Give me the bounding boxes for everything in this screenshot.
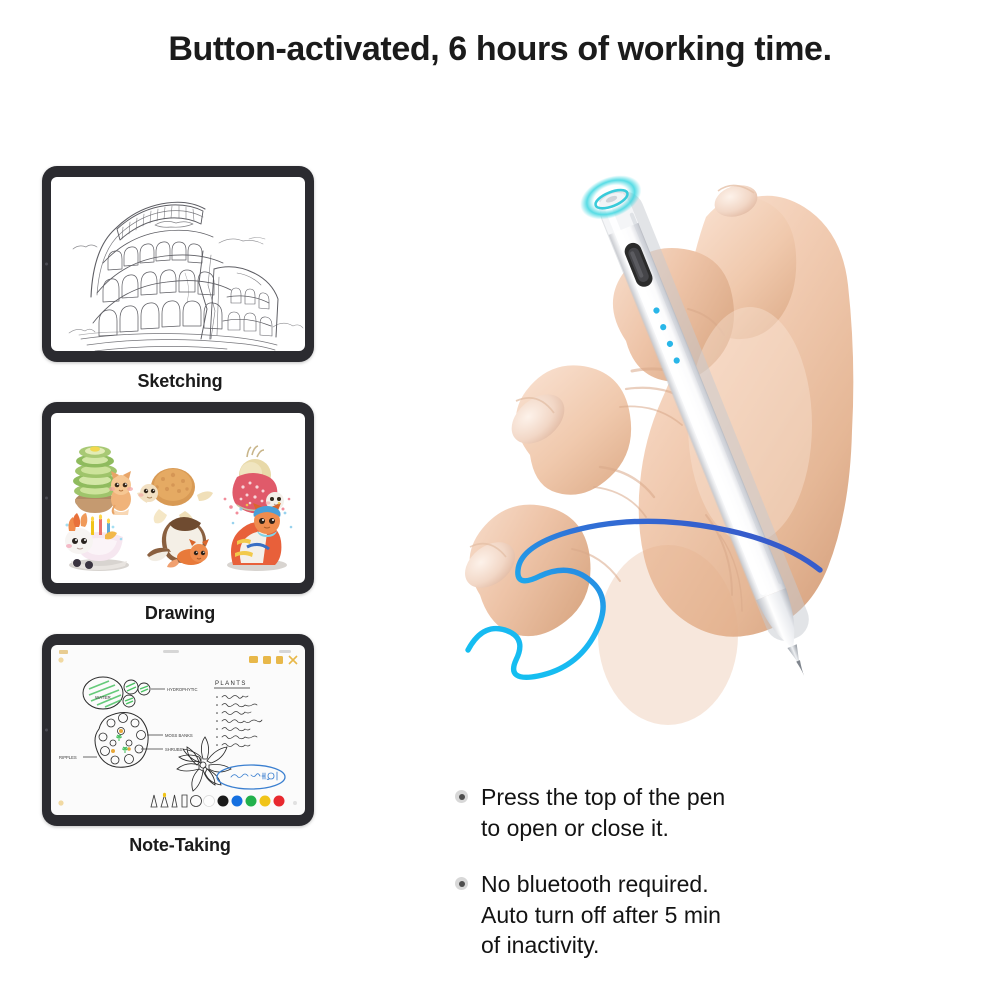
bullet-item: Press the top of the pen to open or clos… xyxy=(455,782,885,843)
svg-text:PLANTS: PLANTS xyxy=(215,681,247,687)
bullet-line: Auto turn off after 5 min xyxy=(481,900,721,931)
tablet-frame-note-taking: WATER HYDROPHYTIC xyxy=(42,634,314,826)
tablet-screen-drawing xyxy=(51,413,305,583)
bullet-text: No bluetooth required. Auto turn off aft… xyxy=(481,869,721,961)
camera-icon xyxy=(45,729,48,732)
svg-text:MOSS BANKS: MOSS BANKS xyxy=(165,733,193,738)
colosseum-sketch-icon xyxy=(51,177,305,351)
watercolor-illustrations-icon xyxy=(51,413,305,583)
svg-text:WATER: WATER xyxy=(95,695,111,700)
svg-text:SHRUBS: SHRUBS xyxy=(165,747,183,752)
use-case-sketching: Sketching xyxy=(42,166,318,392)
camera-icon xyxy=(45,497,48,500)
bullet-item: No bluetooth required. Auto turn off aft… xyxy=(455,869,885,961)
bullet-line: of inactivity. xyxy=(481,930,721,961)
svg-text:HYDROPHYTIC: HYDROPHYTIC xyxy=(167,687,197,692)
note-toolbar-top xyxy=(249,656,297,664)
tablet-frame-sketching xyxy=(42,166,314,362)
product-feature-page: Button-activated, 6 hours of working tim… xyxy=(0,0,1000,1000)
bullet-line: No bluetooth required. xyxy=(481,869,721,900)
bullet-dot-icon xyxy=(455,877,468,890)
tablet-screen-note-taking: WATER HYDROPHYTIC xyxy=(51,645,305,815)
camera-icon xyxy=(45,263,48,266)
caption-drawing: Drawing xyxy=(42,603,318,624)
tablet-screen-sketching xyxy=(51,177,305,351)
hand-holding-stylus-photo xyxy=(420,95,980,755)
use-case-note-taking: WATER HYDROPHYTIC xyxy=(42,634,318,856)
page-title: Button-activated, 6 hours of working tim… xyxy=(0,30,1000,69)
use-case-drawing: Drawing xyxy=(42,402,318,624)
feature-bullet-list: Press the top of the pen to open or clos… xyxy=(455,782,885,987)
svg-text:RIPPLES: RIPPLES xyxy=(59,755,77,760)
use-case-list: Sketching xyxy=(42,166,318,866)
bullet-line: to open or close it. xyxy=(481,813,725,844)
bullet-dot-icon xyxy=(455,790,468,803)
bullet-line: Press the top of the pen xyxy=(481,782,725,813)
note-app-icon: WATER HYDROPHYTIC xyxy=(51,645,305,815)
caption-note-taking: Note-Taking xyxy=(42,835,318,856)
bullet-text: Press the top of the pen to open or clos… xyxy=(481,782,725,843)
caption-sketching: Sketching xyxy=(42,371,318,392)
note-color-toolbar xyxy=(151,793,285,807)
tablet-frame-drawing xyxy=(42,402,314,594)
